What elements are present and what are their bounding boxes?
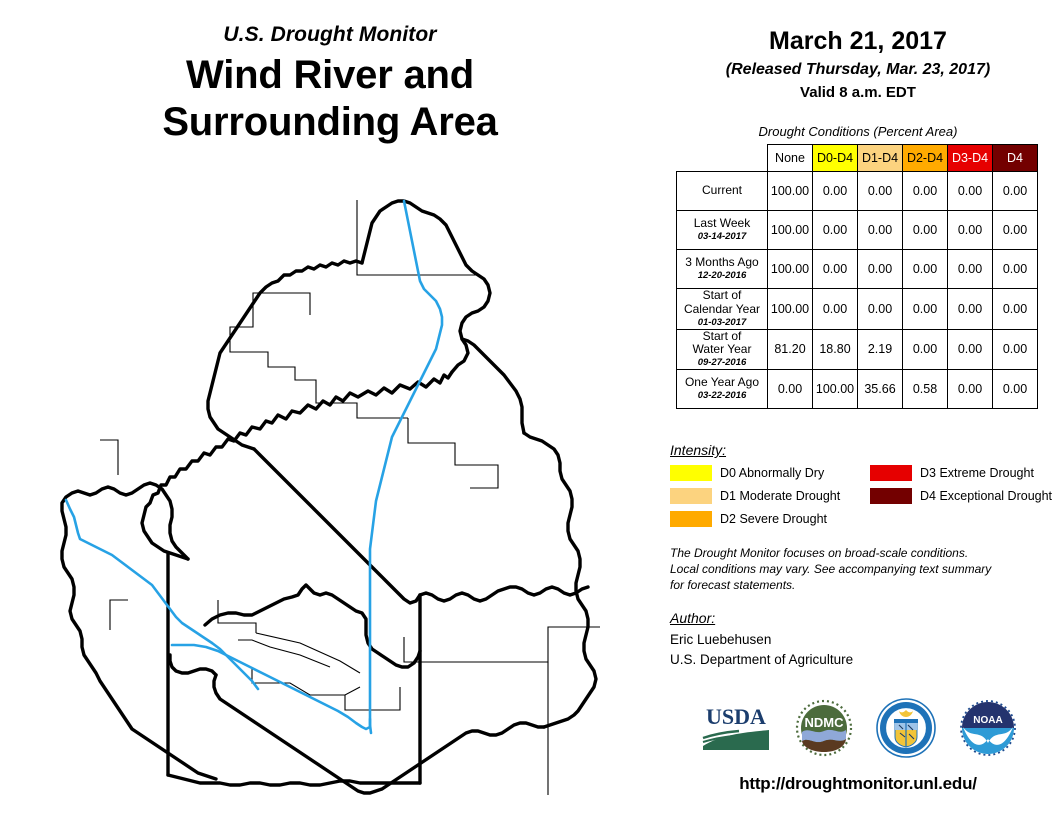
table-cell: 18.80 — [813, 329, 858, 370]
table-cell: 0.00 — [768, 370, 813, 409]
usda-logo[interactable]: USDA — [699, 700, 773, 756]
ndmc-logo-text: NDMC — [805, 715, 845, 730]
table-cell: 2.19 — [858, 329, 903, 370]
table-cell: 100.00 — [768, 250, 813, 289]
table-cell: 0.00 — [858, 289, 903, 330]
legend-label-d1: D1 Moderate Drought — [720, 489, 840, 503]
table-cell: 81.20 — [768, 329, 813, 370]
column-header-d3d4: D3-D4 — [948, 145, 993, 172]
valid-date: March 21, 2017 — [660, 28, 1056, 56]
row-label-line: Water Year — [677, 343, 767, 357]
table-cell: 0.00 — [993, 250, 1038, 289]
table-body: Current100.000.000.000.000.000.00Last We… — [677, 172, 1038, 409]
page-title: Wind River and Surrounding Area — [0, 52, 660, 146]
row-label: Start ofCalendar Year01-03-2017 — [677, 289, 768, 330]
table-row: Start ofCalendar Year01-03-2017100.000.0… — [677, 289, 1038, 330]
table-cell: 0.00 — [993, 329, 1038, 370]
table-row: Start ofWater Year09-27-201681.2018.802.… — [677, 329, 1038, 370]
row-label-line: Calendar Year — [677, 303, 767, 317]
column-header-d2d4: D2-D4 — [903, 145, 948, 172]
disclaimer-text: The Drought Monitor focuses on broad-sca… — [670, 546, 1040, 593]
table-cell: 100.00 — [768, 172, 813, 211]
commerce-seal[interactable] — [875, 697, 937, 759]
disclaimer-line-2: Local conditions may vary. See accompany… — [670, 562, 1040, 578]
intensity-title: Intensity: — [670, 442, 1056, 458]
table-cell: 0.00 — [813, 172, 858, 211]
table-cell: 0.00 — [993, 172, 1038, 211]
site-url[interactable]: http://droughtmonitor.unl.edu/ — [660, 774, 1056, 794]
table-cell: 0.00 — [993, 211, 1038, 250]
row-label-date: 09-27-2016 — [677, 358, 767, 369]
table-row: 3 Months Ago12-20-2016100.000.000.000.00… — [677, 250, 1038, 289]
table-caption: Drought Conditions (Percent Area) — [660, 124, 1056, 139]
author-title: Author: — [670, 610, 1040, 626]
table-cell: 0.00 — [858, 211, 903, 250]
table-cell: 0.00 — [948, 370, 993, 409]
usda-logo-text: USDA — [706, 704, 766, 729]
page-title-line2: Surrounding Area — [0, 99, 660, 146]
disclaimer-line-1: The Drought Monitor focuses on broad-sca… — [670, 546, 1040, 562]
valid-time: Valid 8 a.m. EDT — [660, 84, 1056, 101]
legend-label-d0: D0 Abnormally Dry — [720, 466, 824, 480]
table-cell: 35.66 — [858, 370, 903, 409]
table-row: Last Week03-14-2017100.000.000.000.000.0… — [677, 211, 1038, 250]
table-cell: 0.58 — [903, 370, 948, 409]
legend-entry-d4: D4 Exceptional Drought — [870, 488, 1056, 504]
legend-swatch-d2 — [670, 511, 712, 527]
author-org: U.S. Department of Agriculture — [670, 650, 1040, 670]
table-row: Current100.000.000.000.000.000.00 — [677, 172, 1038, 211]
table-cell: 100.00 — [813, 370, 858, 409]
table-cell: 0.00 — [948, 211, 993, 250]
table-cell: 0.00 — [903, 289, 948, 330]
row-label-date: 03-22-2016 — [677, 391, 767, 402]
legend-entry-d0: D0 Abnormally Dry — [670, 465, 870, 481]
row-label-line: Current — [677, 184, 767, 198]
product-name: U.S. Drought Monitor — [0, 24, 660, 46]
table-cell: 0.00 — [813, 211, 858, 250]
drought-conditions-table: None D0-D4 D1-D4 D2-D4 D3-D4 D4 Current1… — [676, 144, 1038, 409]
table-header: None D0-D4 D1-D4 D2-D4 D3-D4 D4 — [677, 145, 1038, 172]
legend-entry-d2: D2 Severe Drought — [670, 511, 870, 527]
table-cell: 0.00 — [858, 172, 903, 211]
table-cell: 0.00 — [948, 289, 993, 330]
table-row: One Year Ago03-22-20160.00100.0035.660.5… — [677, 370, 1038, 409]
table-cell: 0.00 — [993, 289, 1038, 330]
info-panel: March 21, 2017 (Released Thursday, Mar. … — [660, 0, 1056, 816]
noaa-logo[interactable]: NOAA — [959, 699, 1017, 757]
table-cell: 0.00 — [903, 250, 948, 289]
table-corner-cell — [677, 145, 768, 172]
row-label: One Year Ago03-22-2016 — [677, 370, 768, 409]
ndmc-logo[interactable]: NDMC — [795, 699, 853, 757]
map-panel: U.S. Drought Monitor Wind River and Surr… — [0, 0, 660, 816]
table-cell: 0.00 — [948, 329, 993, 370]
table-header-row: None D0-D4 D1-D4 D2-D4 D3-D4 D4 — [677, 145, 1038, 172]
legend-label-d4: D4 Exceptional Drought — [920, 489, 1052, 503]
legend-swatch-d1 — [670, 488, 712, 504]
column-header-d4: D4 — [993, 145, 1038, 172]
table-cell: 0.00 — [813, 289, 858, 330]
date-block: March 21, 2017 (Released Thursday, Mar. … — [660, 28, 1056, 101]
drought-map[interactable] — [0, 175, 660, 795]
table-cell: 100.00 — [768, 289, 813, 330]
row-label-line: One Year Ago — [677, 376, 767, 390]
row-label-line: Last Week — [677, 217, 767, 231]
intensity-legend: Intensity: D0 Abnormally DryD3 Extreme D… — [670, 442, 1056, 527]
row-label-line: 3 Months Ago — [677, 256, 767, 270]
legend-entry-d3: D3 Extreme Drought — [870, 465, 1056, 481]
row-label-line: Start of — [677, 289, 767, 303]
row-label: Current — [677, 172, 768, 211]
logo-row: USDA NDMC — [660, 690, 1056, 766]
title-block: U.S. Drought Monitor Wind River and Surr… — [0, 24, 660, 146]
column-header-none: None — [768, 145, 813, 172]
table-cell: 0.00 — [948, 250, 993, 289]
row-label: Last Week03-14-2017 — [677, 211, 768, 250]
row-label-date: 12-20-2016 — [677, 271, 767, 282]
disclaimer-line-3: for forecast statements. — [670, 578, 1040, 594]
table-cell: 100.00 — [768, 211, 813, 250]
legend-grid: D0 Abnormally DryD3 Extreme DroughtD1 Mo… — [670, 465, 1056, 527]
row-label-date: 03-14-2017 — [677, 232, 767, 243]
author-name: Eric Luebehusen — [670, 630, 1040, 650]
table-cell: 0.00 — [813, 250, 858, 289]
legend-swatch-d3 — [870, 465, 912, 481]
author-block: Author: Eric Luebehusen U.S. Department … — [670, 610, 1040, 671]
page-title-line1: Wind River and — [0, 52, 660, 99]
release-date: (Released Thursday, Mar. 23, 2017) — [660, 61, 1056, 79]
legend-swatch-d4 — [870, 488, 912, 504]
column-header-d0d4: D0-D4 — [813, 145, 858, 172]
legend-label-d3: D3 Extreme Drought — [920, 466, 1034, 480]
legend-entry-d1: D1 Moderate Drought — [670, 488, 870, 504]
row-label: Start ofWater Year09-27-2016 — [677, 329, 768, 370]
table-cell: 0.00 — [903, 211, 948, 250]
table-cell: 0.00 — [858, 250, 903, 289]
noaa-logo-text: NOAA — [973, 715, 1002, 726]
legend-swatch-d0 — [670, 465, 712, 481]
table-cell: 0.00 — [903, 329, 948, 370]
table-cell: 0.00 — [993, 370, 1038, 409]
row-label-line: Start of — [677, 330, 767, 344]
row-label: 3 Months Ago12-20-2016 — [677, 250, 768, 289]
table-cell: 0.00 — [948, 172, 993, 211]
table-cell: 0.00 — [903, 172, 948, 211]
map-background — [0, 175, 660, 795]
legend-label-d2: D2 Severe Drought — [720, 512, 827, 526]
column-header-d1d4: D1-D4 — [858, 145, 903, 172]
row-label-date: 01-03-2017 — [677, 318, 767, 329]
